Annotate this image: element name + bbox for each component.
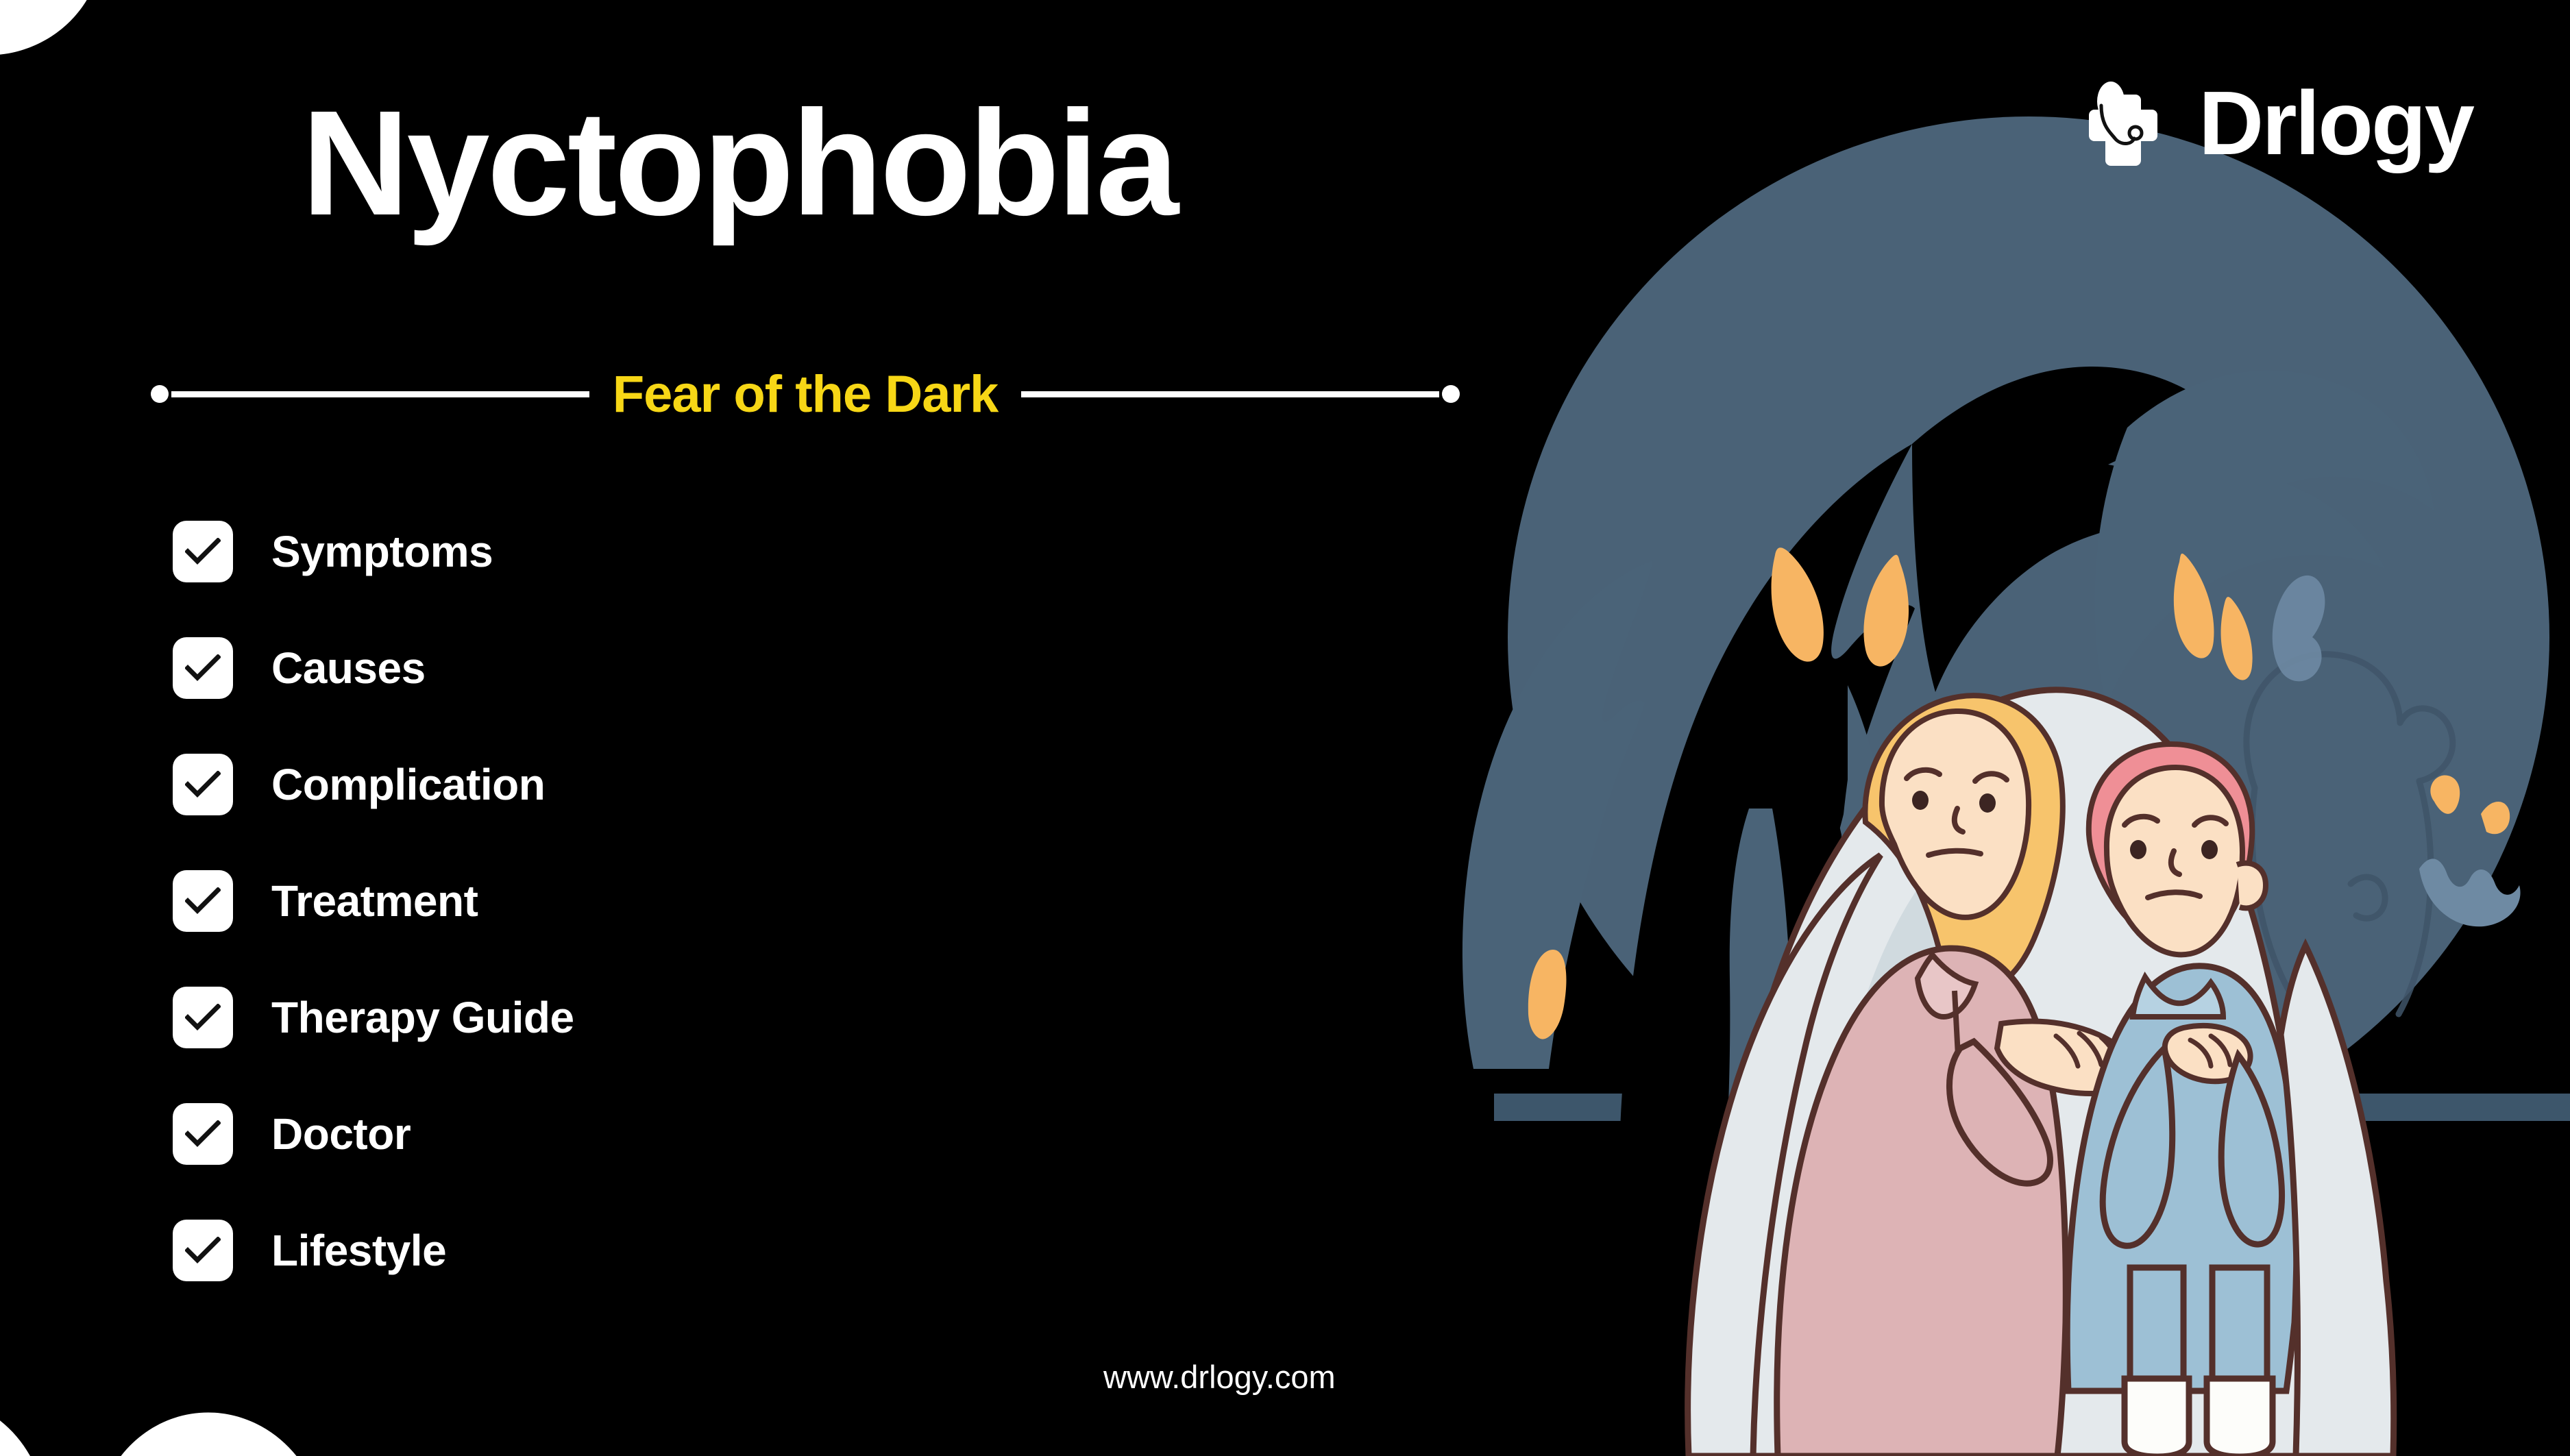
page-title: Nyctophobia bbox=[302, 89, 1176, 238]
checklist-label: Doctor bbox=[271, 1109, 411, 1159]
brand-logo[interactable]: Drlogy bbox=[2075, 75, 2473, 171]
divider-line-right bbox=[1021, 391, 1439, 397]
medical-cross-stethoscope-icon bbox=[2075, 75, 2171, 171]
nyctophobia-illustration bbox=[1439, 0, 2570, 1456]
checklist-label: Therapy Guide bbox=[271, 992, 574, 1043]
ghost-face-right bbox=[2419, 776, 2521, 927]
checkbox-treatment[interactable] bbox=[173, 870, 233, 932]
content-column: Nyctophobia Fear of the Dark Symptoms bbox=[0, 0, 1473, 1456]
background-ghost-outlines bbox=[2247, 654, 2453, 1014]
child-hands bbox=[2165, 1026, 2251, 1081]
adult-face bbox=[1882, 711, 2029, 917]
check-icon bbox=[185, 1004, 221, 1031]
monster-blue-left-arm bbox=[1463, 560, 1653, 1069]
check-icon bbox=[185, 538, 221, 565]
poster-canvas: Nyctophobia Fear of the Dark Symptoms bbox=[0, 0, 2570, 1456]
checklist-label: Symptoms bbox=[271, 526, 493, 577]
checklist-item-lifestyle[interactable]: Lifestyle bbox=[173, 1220, 1201, 1281]
topic-checklist: Symptoms Causes Complication bbox=[173, 521, 1201, 1281]
checkbox-complication[interactable] bbox=[173, 754, 233, 815]
check-icon bbox=[185, 1237, 221, 1264]
monster-blue-mid-arm bbox=[1720, 685, 1892, 1233]
checklist-item-treatment[interactable]: Treatment bbox=[173, 870, 1201, 932]
checkbox-symptoms[interactable] bbox=[173, 521, 233, 582]
subtitle-divider-row: Fear of the Dark bbox=[171, 363, 1439, 425]
checklist-item-complication[interactable]: Complication bbox=[173, 754, 1201, 815]
backdrop-circle bbox=[1494, 116, 2570, 1158]
adult-robe bbox=[1777, 948, 2066, 1456]
brand-name: Drlogy bbox=[2199, 78, 2473, 169]
checkbox-therapy-guide[interactable] bbox=[173, 987, 233, 1048]
checklist-label: Causes bbox=[271, 643, 426, 693]
monster-blue-right-cloak bbox=[2053, 370, 2434, 1158]
huddled-characters bbox=[1688, 690, 2394, 1456]
check-icon bbox=[185, 1120, 221, 1148]
adult-hand bbox=[1997, 1022, 2131, 1094]
checklist-label: Complication bbox=[271, 759, 545, 810]
divider-line-left bbox=[171, 391, 589, 397]
checklist-item-symptoms[interactable]: Symptoms bbox=[173, 521, 1201, 582]
checkbox-lifestyle[interactable] bbox=[173, 1220, 233, 1281]
checklist-item-causes[interactable]: Causes bbox=[173, 637, 1201, 699]
footer-website-url[interactable]: www.drlogy.com bbox=[1103, 1358, 1336, 1396]
child-pajama bbox=[2067, 966, 2297, 1391]
check-icon bbox=[185, 654, 221, 682]
check-icon bbox=[185, 887, 221, 915]
subtitle-text: Fear of the Dark bbox=[589, 365, 1022, 424]
checkbox-doctor[interactable] bbox=[173, 1103, 233, 1165]
check-icon bbox=[185, 771, 221, 798]
blanket bbox=[1717, 690, 2307, 1456]
checklist-item-doctor[interactable]: Doctor bbox=[173, 1103, 1201, 1165]
child-sock-left bbox=[2125, 1379, 2189, 1456]
child-face bbox=[2107, 767, 2242, 954]
checklist-item-therapy-guide[interactable]: Therapy Guide bbox=[173, 987, 1201, 1048]
checklist-label: Treatment bbox=[271, 876, 478, 926]
checkbox-causes[interactable] bbox=[173, 637, 233, 699]
monster-black-center bbox=[1619, 367, 2248, 1233]
child-sock-right bbox=[2207, 1379, 2273, 1456]
checklist-label: Lifestyle bbox=[271, 1225, 446, 1276]
